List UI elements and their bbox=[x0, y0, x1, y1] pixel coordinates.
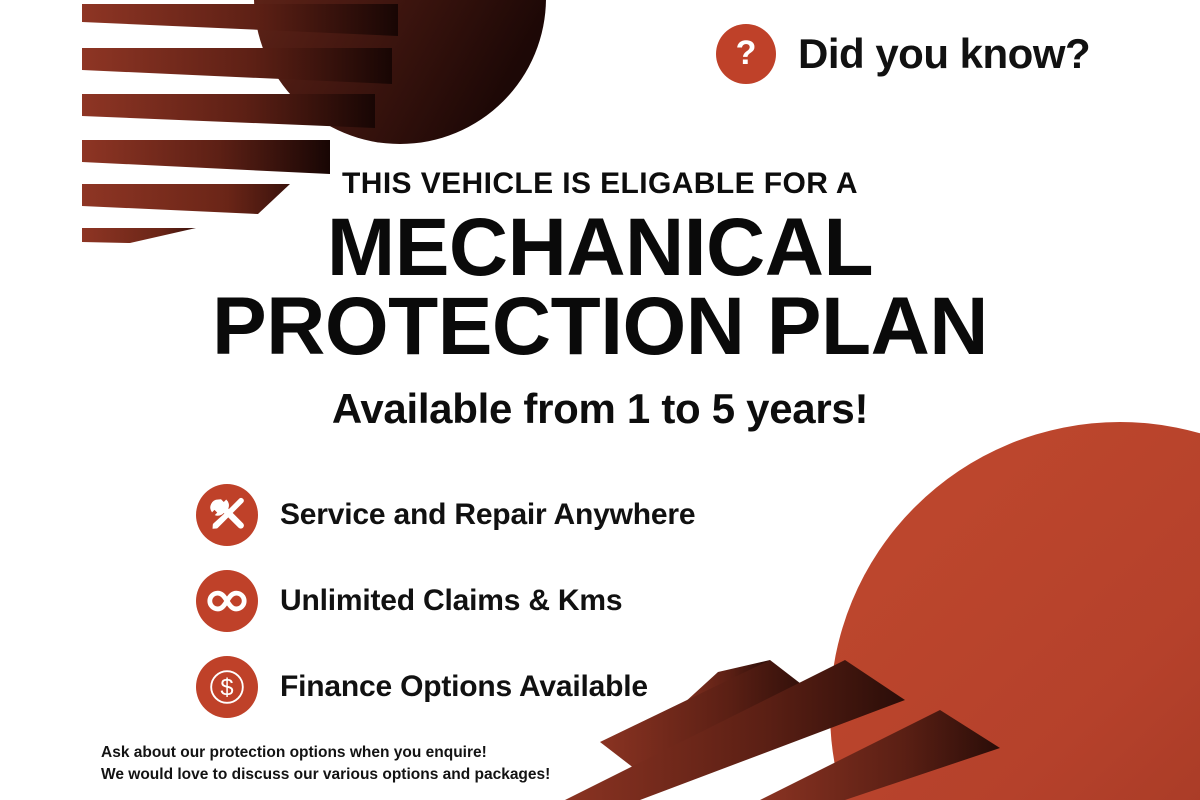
did-you-know-label: Did you know? bbox=[798, 30, 1090, 78]
headline-subhead: Available from 1 to 5 years! bbox=[0, 385, 1200, 433]
feature-list: Service and Repair Anywhere Unlimited Cl… bbox=[196, 472, 896, 730]
promo-poster: ? Did you know? THIS VEHICLE IS ELIGABLE… bbox=[0, 0, 1200, 800]
top-left-circle-motif bbox=[254, 0, 546, 144]
feature-label: Finance Options Available bbox=[280, 670, 648, 704]
question-mark-icon: ? bbox=[716, 24, 776, 84]
svg-text:$: $ bbox=[220, 676, 233, 702]
headline-line-2: PROTECTION PLAN bbox=[0, 285, 1200, 369]
headline-block: THIS VEHICLE IS ELIGABLE FOR A MECHANICA… bbox=[0, 168, 1200, 369]
did-you-know-banner: ? Did you know? bbox=[716, 24, 1090, 84]
footnote-line-1: Ask about our protection options when yo… bbox=[101, 742, 550, 764]
infinity-icon bbox=[196, 570, 258, 632]
feature-item-service-repair: Service and Repair Anywhere bbox=[196, 472, 896, 558]
feature-label: Unlimited Claims & Kms bbox=[280, 584, 622, 618]
svg-text:?: ? bbox=[736, 34, 757, 72]
tools-icon bbox=[196, 484, 258, 546]
feature-label: Service and Repair Anywhere bbox=[280, 498, 695, 532]
feature-item-finance-options: $ Finance Options Available bbox=[196, 644, 896, 730]
headline-line-1: MECHANICAL bbox=[0, 206, 1200, 290]
footnote-block: Ask about our protection options when yo… bbox=[101, 742, 550, 787]
dollar-coin-icon: $ bbox=[196, 656, 258, 718]
feature-item-unlimited-claims: Unlimited Claims & Kms bbox=[196, 558, 896, 644]
headline-eyebrow: THIS VEHICLE IS ELIGABLE FOR A bbox=[0, 168, 1200, 200]
footnote-line-2: We would love to discuss our various opt… bbox=[101, 764, 550, 786]
